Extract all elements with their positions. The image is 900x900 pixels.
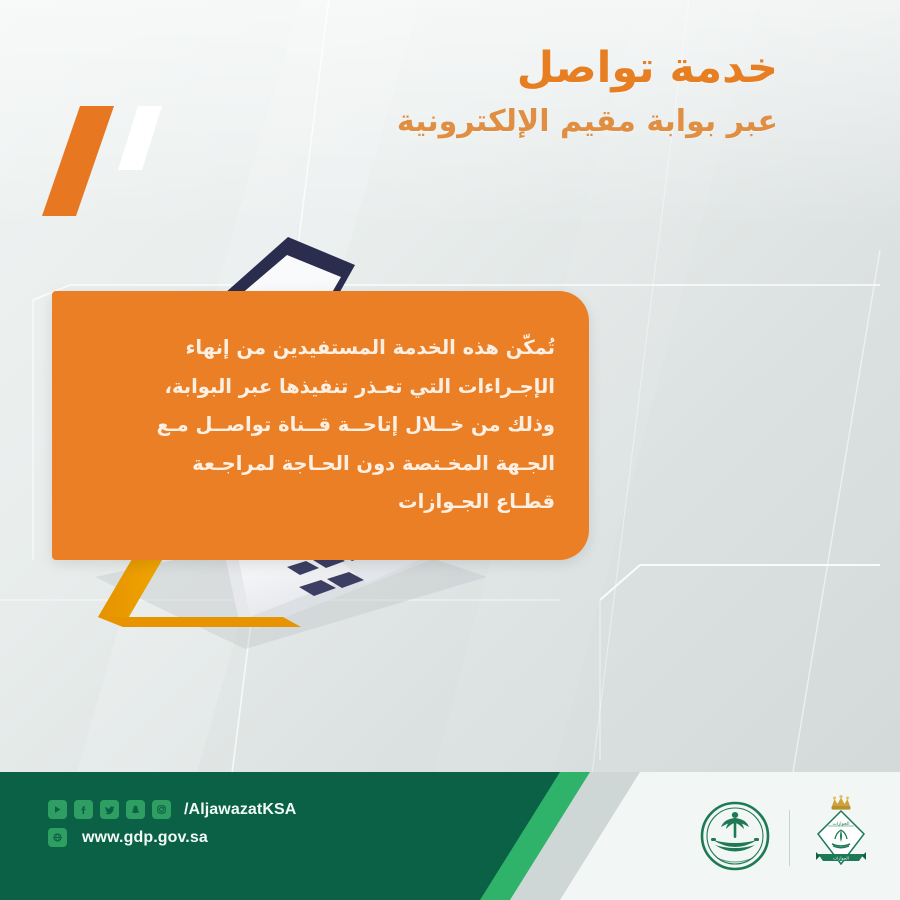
title-block: خدمة تواصل عبر بوابة مقيم الإلكترونية <box>134 46 794 141</box>
description-line: الإجـراءات التي تعـذر تنفيذها عبر البواب… <box>92 368 555 407</box>
palm-tree-icon <box>721 812 749 838</box>
footer: /AljawazatKSA www.gdp.gov.sa <box>0 772 900 900</box>
snapchat-icon[interactable] <box>126 800 145 819</box>
website-url[interactable]: www.gdp.gov.sa <box>82 829 208 847</box>
social-row-website: www.gdp.gov.sa <box>48 828 296 847</box>
jawazat-emblem: الجوازات الجوازات <box>806 794 876 882</box>
description-panel: تُمكّن هذه الخدمة المستفيدين من إنهاء ال… <box>52 291 589 560</box>
description-line: وذلك من خــلال إتاحــة قــناة تواصــل مـ… <box>92 406 555 445</box>
description-line: الجـهة المخـتصة دون الحـاجة لمراجـعة <box>92 445 555 484</box>
twitter-icon[interactable] <box>100 800 119 819</box>
footer-logos: الجوازات الجوازات <box>697 794 876 882</box>
instagram-icon[interactable] <box>152 800 171 819</box>
poster-canvas: خدمة تواصل عبر بوابة مقيم الإلكترونية <box>0 0 900 900</box>
slash-shapes <box>42 106 162 216</box>
page-title: خدمة تواصل <box>134 46 794 91</box>
facebook-icon[interactable] <box>74 800 93 819</box>
logo-divider <box>789 810 790 866</box>
orange-slash-icon <box>42 106 114 216</box>
social-links: /AljawazatKSA www.gdp.gov.sa <box>48 800 296 856</box>
crossed-swords-icon <box>711 838 759 852</box>
page-subtitle: عبر بوابة مقيم الإلكترونية <box>134 103 794 141</box>
youtube-icon[interactable] <box>48 800 67 819</box>
social-row-accounts: /AljawazatKSA <box>48 800 296 819</box>
svg-text:الجوازات: الجوازات <box>832 822 849 827</box>
ministry-of-interior-emblem <box>697 796 773 880</box>
crown-icon <box>832 795 851 810</box>
header: خدمة تواصل عبر بوابة مقيم الإلكترونية <box>0 46 900 196</box>
white-slash-icon <box>118 106 162 170</box>
description-line: تُمكّن هذه الخدمة المستفيدين من إنهاء <box>92 329 555 368</box>
brand-slash-mark <box>42 106 162 216</box>
svg-text:الجوازات: الجوازات <box>833 856 849 861</box>
globe-icon[interactable] <box>48 828 67 847</box>
social-handle[interactable]: /AljawazatKSA <box>184 801 296 819</box>
description-text: تُمكّن هذه الخدمة المستفيدين من إنهاء ال… <box>52 329 589 522</box>
description-line: قطـاع الجـوازات <box>92 483 555 522</box>
